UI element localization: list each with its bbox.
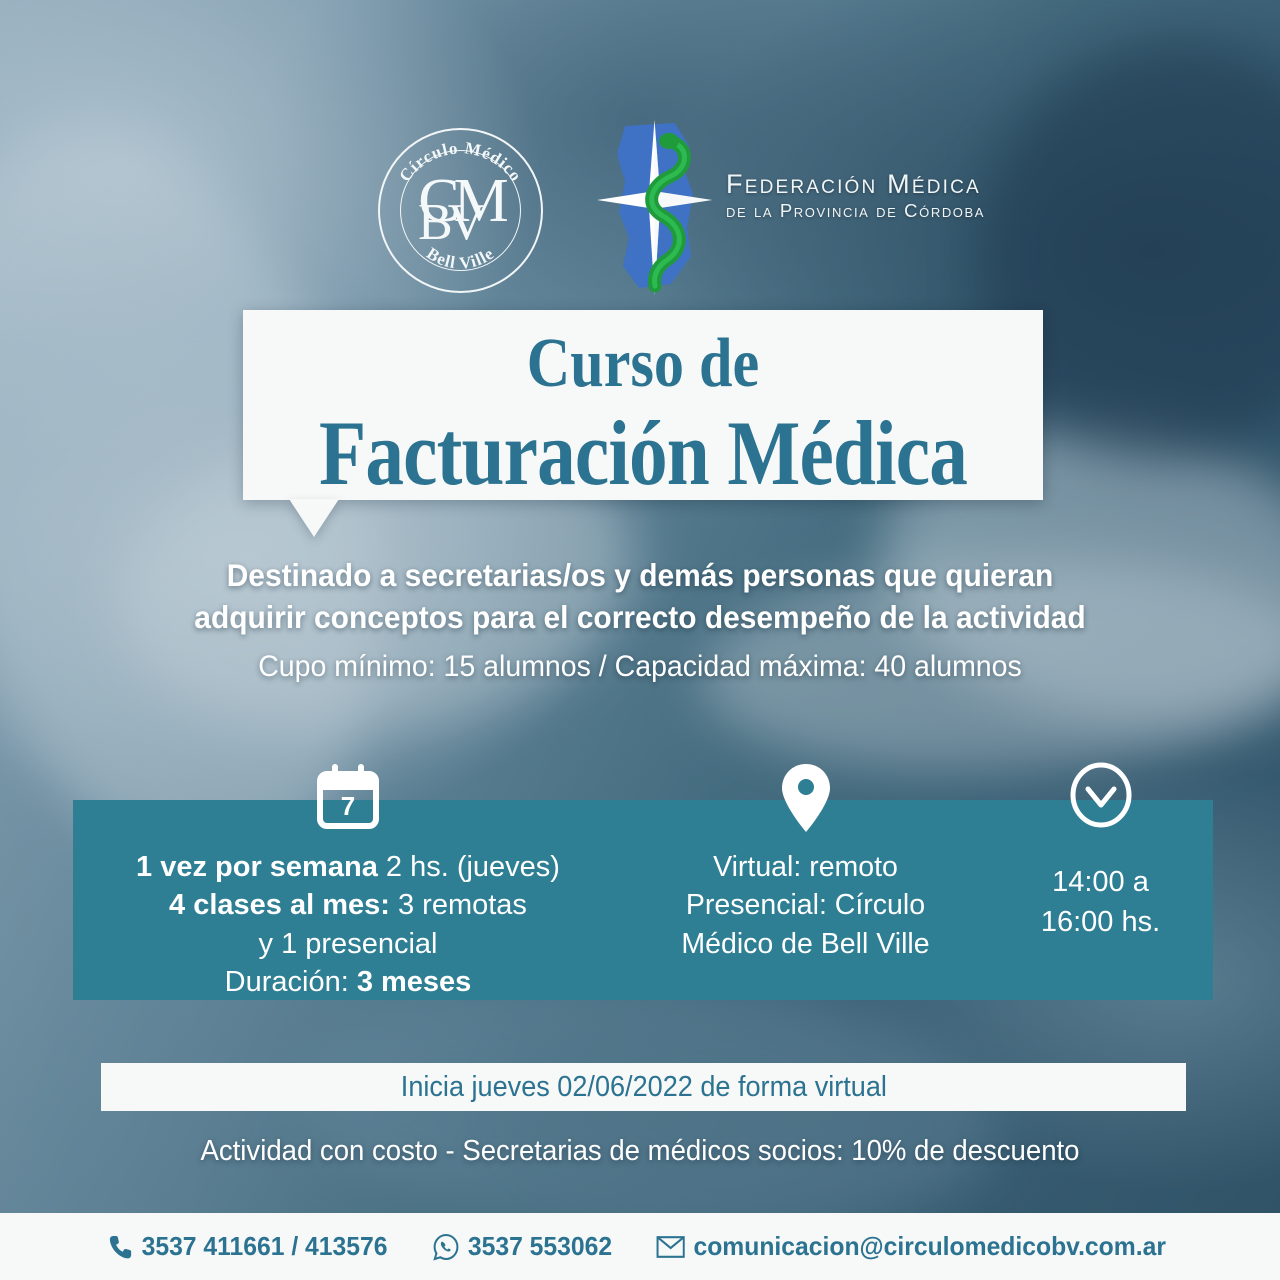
federacion-medica-wordmark: Federación Médica de la Provincia de Cór…: [726, 170, 1146, 222]
schedule-lines: 1 vez por semana 2 hs. (jueves) 4 clases…: [98, 848, 598, 1001]
flyer-canvas: Círculo Médico Bell Ville CM BV: [0, 0, 1280, 1280]
map-pin-icon: [618, 762, 993, 834]
federacion-medica-emblem: [597, 120, 712, 295]
location-line-1: Virtual: remoto: [618, 848, 993, 886]
time-line-2: 16:00 hs.: [1003, 902, 1198, 942]
schedule-line-1-normal: 2 hs. (jueves): [378, 851, 560, 883]
calendar-icon: 7: [98, 762, 598, 834]
location-line-3: Médico de Bell Ville: [618, 925, 993, 963]
location-line-2: Presencial: Círculo: [618, 886, 993, 924]
schedule-line-1-bold: 1 vez por semana: [136, 851, 378, 883]
schedule-line-4-bold: 3 meses: [357, 966, 472, 998]
description-block: Destinado a secretarias/os y demás perso…: [90, 555, 1190, 689]
contact-phone[interactable]: 3537 411661 / 413576: [108, 1231, 387, 1262]
email-icon: [657, 1235, 686, 1259]
clock-check-icon: [1003, 762, 1198, 828]
federacion-line2: de la Provincia de Córdoba: [726, 200, 1146, 221]
schedule-line-2-bold: 4 clases al mes:: [169, 889, 390, 921]
schedule-line-2-normal: 3 remotas: [390, 889, 527, 921]
location-lines: Virtual: remoto Presencial: Círculo Médi…: [618, 848, 993, 963]
description-line2: adquirir conceptos para el correcto dese…: [118, 597, 1163, 639]
start-date-text: Inicia jueves 02/06/2022 de forma virtua…: [400, 1071, 886, 1104]
email-address: comunicacion@circulomedicobv.com.ar: [694, 1231, 1166, 1262]
federacion-line1: Federación Médica: [726, 170, 1146, 198]
whatsapp-icon: [433, 1233, 460, 1261]
cost-note: Actividad con costo - Secretarias de méd…: [70, 1135, 1210, 1168]
contact-bar: 3537 411661 / 413576 3537 553062 comunic…: [0, 1213, 1280, 1280]
schedule-line-2: 4 clases al mes: 3 remotas: [98, 886, 598, 924]
phone-number: 3537 411661 / 413576: [141, 1231, 387, 1262]
seal-monogram-bv: BV: [418, 202, 480, 244]
info-band: 7 1 vez por semana 2 hs. (jueves) 4 clas…: [73, 800, 1213, 1000]
whatsapp-number: 3537 553062: [468, 1231, 612, 1262]
title-line1: Curso de: [299, 324, 987, 404]
serpent-head: [659, 133, 679, 149]
start-date-banner: Inicia jueves 02/06/2022 de forma virtua…: [101, 1063, 1186, 1111]
schedule-line-4-normal: Duración:: [225, 966, 357, 998]
title-line2: Facturación Médica: [307, 400, 979, 506]
calendar-day-number: 7: [341, 791, 355, 821]
schedule-line-1: 1 vez por semana 2 hs. (jueves): [98, 848, 598, 886]
title-card-tail: [289, 499, 339, 537]
time-line-1: 14:00 a: [1003, 862, 1198, 902]
description-line3: Cupo mínimo: 15 alumnos / Capacidad máxi…: [118, 644, 1163, 689]
schedule-line-4: Duración: 3 meses: [98, 963, 598, 1001]
header-logos: Círculo Médico Bell Ville CM BV: [0, 58, 1280, 238]
seal-monogram: CM BV: [378, 158, 543, 263]
circulo-medico-seal-logo: Círculo Médico Bell Ville CM BV: [378, 128, 543, 293]
title-card: Curso de Facturación Médica: [243, 310, 1043, 500]
schedule-line-3: y 1 presencial: [98, 925, 598, 963]
contact-whatsapp[interactable]: 3537 553062: [433, 1231, 612, 1262]
time-lines: 14:00 a 16:00 hs.: [1003, 862, 1198, 942]
description-line1: Destinado a secretarias/os y demás perso…: [118, 555, 1163, 597]
contact-email[interactable]: comunicacion@circulomedicobv.com.ar: [657, 1231, 1167, 1262]
phone-icon: [108, 1234, 133, 1260]
